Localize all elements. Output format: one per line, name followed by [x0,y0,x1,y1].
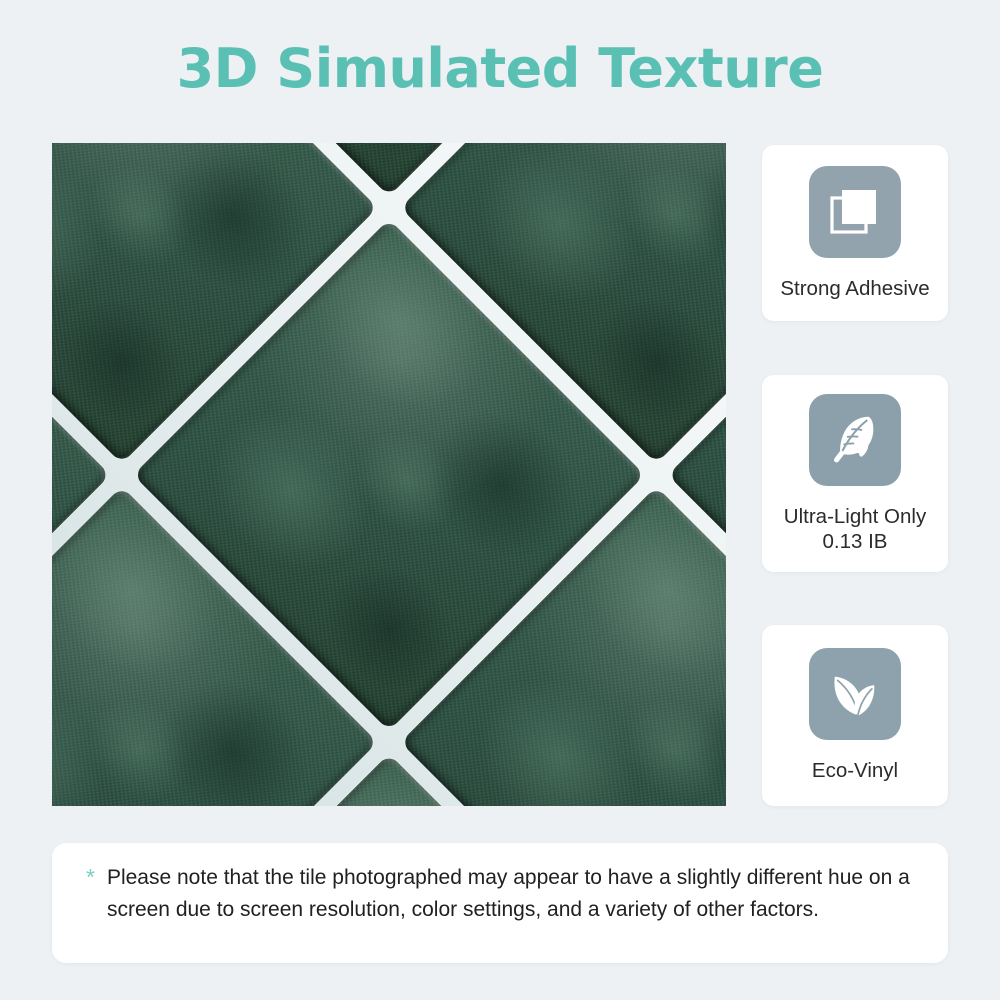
feature-label-ultra-light: Ultra-Light Only 0.13 IB [784,504,926,554]
feature-label-eco-vinyl: Eco-Vinyl [812,758,898,783]
feature-label-line2: 0.13 IB [784,529,926,554]
feature-label-line1: Eco-Vinyl [812,759,898,782]
asterisk-marker: * [86,862,95,892]
feature-card-strong-adhesive: Strong Adhesive [762,145,948,321]
page-title: 3D Simulated Texture [0,42,1000,96]
disclaimer-inner: * Please note that the tile photographed… [86,862,910,926]
tile-rotation-wrapper [52,143,726,806]
tile-grid [52,143,726,806]
icon-tile-adhesive [809,166,901,258]
feature-label-strong-adhesive: Strong Adhesive [780,276,929,301]
disclaimer-text: Please note that the tile photographed m… [107,862,910,926]
icon-tile-feather [809,394,901,486]
overlapping-squares-icon [825,182,885,242]
feature-card-ultra-light: Ultra-Light Only 0.13 IB [762,375,948,572]
icon-tile-leaves [809,648,901,740]
feature-label-line1: Strong Adhesive [780,277,929,300]
leaves-icon [825,664,885,724]
disclaimer-card: * Please note that the tile photographed… [52,843,948,963]
tile-photo [52,143,726,806]
feature-card-eco-vinyl: Eco-Vinyl [762,625,948,806]
feature-label-line1: Ultra-Light Only [784,505,926,528]
feather-icon [824,409,886,471]
